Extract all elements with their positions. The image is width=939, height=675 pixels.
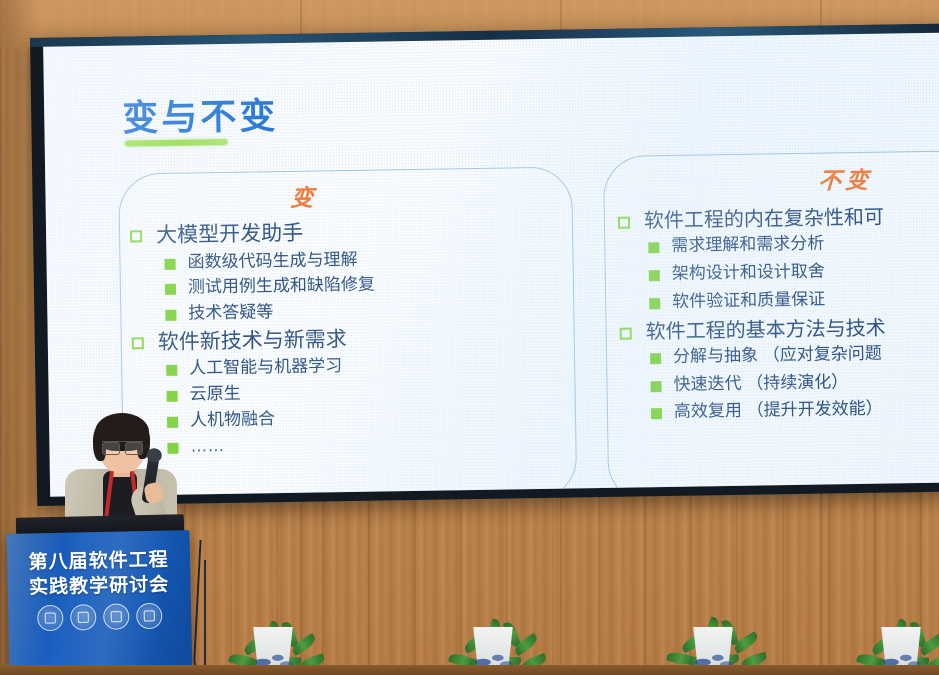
- solid-square-bullet-icon: [649, 270, 660, 281]
- list-item: 软件工程的内在复杂性和可: [618, 206, 884, 235]
- potted-plant: [658, 565, 768, 675]
- list-item: 架构设计和设计取舍: [649, 261, 885, 285]
- podium-banner: 第八届软件工程 实践教学研讨会: [7, 530, 193, 675]
- solid-square-bullet-icon: [650, 353, 661, 364]
- right-group-1: 软件工程的内在复杂性和可 需求理解和需求分析 架构设计和设计取舍 软件: [618, 206, 886, 314]
- glasses-icon: [102, 441, 143, 452]
- title-underline-rule: [125, 139, 228, 147]
- sub-item-label: 分解与抽象 （应对复杂问题: [673, 344, 882, 368]
- hollow-square-bullet-icon: [130, 230, 142, 242]
- university-logo-icon: [37, 605, 64, 632]
- list-item: 云原生: [166, 382, 376, 406]
- right-panel-heading: 不变: [817, 161, 873, 196]
- list-item: 函数级代码生成与理解: [164, 249, 374, 273]
- sub-item-label: 架构设计和设计取舍: [672, 262, 825, 285]
- sub-item-label: 测试用例生成和缺陷修复: [188, 275, 375, 299]
- potted-plant: [218, 565, 328, 675]
- group-label: 软件工程的基本方法与技术: [646, 316, 886, 344]
- group-label: 大模型开发助手: [156, 221, 303, 249]
- sub-item-label: 高效复用 （提升开发效能）: [674, 399, 883, 423]
- floor-strip: [0, 665, 939, 675]
- list-item: 高效复用 （提升开发效能）: [651, 399, 887, 423]
- conference-photo-scene: 变与不变 变 大模型开发助手 函数级代码生成与理解: [0, 0, 939, 675]
- solid-square-bullet-icon: [650, 381, 661, 392]
- list-item: 测试用例生成和缺陷修复: [165, 275, 375, 299]
- sub-item-label: 需求理解和需求分析: [671, 234, 824, 257]
- solid-square-bullet-icon: [651, 409, 662, 420]
- sub-item-label: 云原生: [189, 384, 240, 406]
- solid-square-bullet-icon: [648, 243, 659, 254]
- sub-item-label: 快速迭代 （持续演化）: [673, 372, 848, 395]
- list-item: 软件工程的基本方法与技术: [620, 316, 886, 345]
- list-item: 软件验证和质量保证: [649, 288, 885, 312]
- solid-square-bullet-icon: [167, 391, 178, 402]
- left-group-1: 大模型开发助手 函数级代码生成与理解 测试用例生成和缺陷修复 技术答疑: [130, 220, 376, 326]
- university-logo-icon: [136, 603, 163, 630]
- hollow-square-bullet-icon: [132, 337, 144, 349]
- list-item: 软件新技术与新需求: [132, 326, 376, 355]
- list-item: 人机物融合: [167, 407, 377, 431]
- solid-square-bullet-icon: [164, 258, 175, 269]
- solid-square-bullet-icon: [165, 310, 176, 321]
- solid-square-bullet-icon: [166, 365, 177, 376]
- sub-item-label: 人工智能与机器学习: [189, 357, 342, 380]
- list-item: 需求理解和需求分析: [648, 233, 884, 257]
- sub-item-label: 技术答疑等: [188, 302, 273, 324]
- slide-title: 变与不变: [122, 87, 279, 141]
- hollow-square-bullet-icon: [620, 327, 632, 339]
- sub-item-label: ……: [190, 436, 224, 457]
- group-label: 软件工程的内在复杂性和可: [644, 206, 884, 234]
- left-panel-heading: 变: [290, 178, 319, 212]
- university-logo-icon: [103, 603, 130, 630]
- sub-item-label: 软件验证和质量保证: [672, 289, 825, 312]
- list-item: 分解与抽象 （应对复杂问题: [650, 344, 886, 368]
- hollow-square-bullet-icon: [618, 217, 630, 229]
- list-item: ……: [167, 433, 377, 457]
- list-item: 快速迭代 （持续演化）: [650, 371, 886, 395]
- potted-plant: [846, 565, 939, 675]
- right-group-2: 软件工程的基本方法与技术 分解与抽象 （应对复杂问题 快速迭代 （持续演化）: [620, 316, 888, 424]
- university-logo-row: [8, 602, 192, 632]
- solid-square-bullet-icon: [165, 284, 176, 295]
- right-bullet-list: 软件工程的内在复杂性和可 需求理解和需求分析 架构设计和设计取舍 软件: [618, 206, 887, 431]
- potted-plant: [438, 565, 548, 675]
- podium-title-line-2: 实践教学研讨会: [7, 569, 191, 600]
- floor-cable: [204, 560, 214, 675]
- sub-item-label: 函数级代码生成与理解: [187, 249, 357, 272]
- list-item: 技术答疑等: [165, 301, 375, 325]
- solid-square-bullet-icon: [649, 298, 660, 309]
- university-logo-icon: [70, 604, 97, 631]
- sub-item-label: 人机物融合: [190, 409, 275, 431]
- list-item: 大模型开发助手: [130, 220, 374, 249]
- group-label: 软件新技术与新需求: [158, 327, 347, 356]
- list-item: 人工智能与机器学习: [166, 356, 376, 380]
